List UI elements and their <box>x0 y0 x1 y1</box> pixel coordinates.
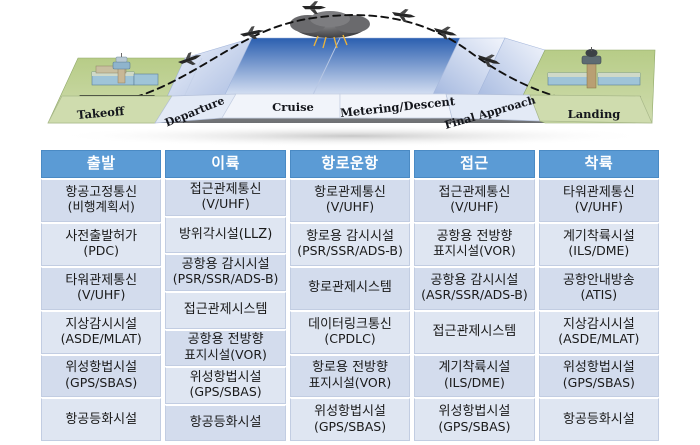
phase-column-3: 접근접근관제통신(V/UHF)공항용 전방향표지시설(VOR)공항용 감시시설(… <box>414 150 534 441</box>
facility-cell[interactable]: 공항안내방송(ATIS) <box>539 267 659 310</box>
facility-code: (V/UHF) <box>575 200 623 215</box>
facility-cell[interactable]: 계기착륙시설(ILS/DME) <box>539 223 659 266</box>
facility-name: 접근관제시스템 <box>433 324 517 339</box>
facility-cell[interactable]: 위성항법시설(GPS/SBAS) <box>539 355 659 398</box>
facility-name: 위성항법시설 <box>439 404 511 419</box>
facility-cell[interactable]: 공항용 전방향표지시설(VOR) <box>165 330 285 367</box>
flight-phases-diagram: Takeoff Departure Cruise Metering/Descen… <box>0 0 700 146</box>
facility-name: 계기착륙시설 <box>439 360 511 375</box>
cruise-air-block <box>222 38 460 101</box>
facility-name: 접근관제통신 <box>190 182 262 197</box>
facility-cell[interactable]: 접근관제통신(V/UHF) <box>414 179 534 222</box>
facility-code: 표지시설(VOR) <box>309 376 392 391</box>
facility-name: 공항안내방송 <box>563 273 635 288</box>
facility-code: (비행계획서) <box>68 200 135 215</box>
facility-code: (V/UHF) <box>201 197 249 212</box>
facility-cell[interactable]: 지상감시시설(ASDE/MLAT) <box>41 311 161 354</box>
facility-cell[interactable]: 데이터링크통신(CPDLC) <box>290 311 410 354</box>
facility-code: (PDC) <box>83 244 119 259</box>
phase-column-2: 항로운항항로관제통신(V/UHF)항로용 감시시설(PSR/SSR/ADS-B)… <box>290 150 410 441</box>
facility-cell[interactable]: 항공고정통신(비행계획서) <box>41 179 161 222</box>
facility-name: 계기착륙시설 <box>563 229 635 244</box>
facility-name: 항로용 전방향 <box>312 360 388 375</box>
facility-code: (ATIS) <box>581 288 618 303</box>
facility-cell[interactable]: 타워관제통신(V/UHF) <box>539 179 659 222</box>
flight-phase-facilities-table: 출발항공고정통신(비행계획서)사전출발허가(PDC)타워관제통신(V/UHF)지… <box>41 150 659 441</box>
facility-name: 항공등화시설 <box>563 412 635 427</box>
facility-cell[interactable]: 위성항법시설(GPS/SBAS) <box>41 355 161 398</box>
phase-label-landing: Landing <box>568 107 621 121</box>
facility-code: (CPDLC) <box>324 332 375 347</box>
facility-name: 위성항법시설 <box>65 360 137 375</box>
facility-name: 접근관제통신 <box>439 185 511 200</box>
column-header[interactable]: 접근 <box>414 150 534 178</box>
airplane-icon-descent-1 <box>391 7 417 23</box>
facility-cell[interactable]: 항공등화시설 <box>539 398 659 441</box>
facility-cell[interactable]: 지상감시시설(ASDE/MLAT) <box>539 311 659 354</box>
facility-cell[interactable]: 위성항법시설(GPS/SBAS) <box>414 398 534 441</box>
facility-code: (V/UHF) <box>77 288 125 303</box>
facility-cell[interactable]: 위성항법시설(GPS/SBAS) <box>290 398 410 441</box>
facility-cell[interactable]: 방위각시설(LLZ) <box>165 217 285 254</box>
facility-cell[interactable]: 타워관제통신(V/UHF) <box>41 267 161 310</box>
facility-code: (PSR/SSR/ADS-B) <box>173 272 279 287</box>
column-header[interactable]: 항로운항 <box>290 150 410 178</box>
facility-name: 접근관제시스템 <box>184 302 268 317</box>
phase-column-4: 착륙타워관제통신(V/UHF)계기착륙시설(ILS/DME)공항안내방송(ATI… <box>539 150 659 441</box>
facility-code: 표지시설(VOR) <box>433 244 516 259</box>
facility-name: 지상감시시설 <box>563 317 635 332</box>
facility-name: 항공고정통신 <box>65 185 137 200</box>
column-header[interactable]: 착륙 <box>539 150 659 178</box>
facility-cell[interactable]: 항로용 감시시설(PSR/SSR/ADS-B) <box>290 223 410 266</box>
flight-phases-diagram-svg: Takeoff Departure Cruise Metering/Descen… <box>0 0 700 146</box>
platform-shadow <box>52 125 652 146</box>
facility-cell[interactable]: 공항용 감시시설(ASR/SSR/ADS-B) <box>414 267 534 310</box>
facility-cell[interactable]: 공항용 전방향표지시설(VOR) <box>414 223 534 266</box>
facility-cell[interactable]: 항공등화시설 <box>165 405 285 442</box>
phase-column-0: 출발항공고정통신(비행계획서)사전출발허가(PDC)타워관제통신(V/UHF)지… <box>41 150 161 441</box>
facility-code: (PSR/SSR/ADS-B) <box>297 244 403 259</box>
facility-code: (GPS/SBAS) <box>190 385 262 400</box>
facility-code: 표지시설(VOR) <box>184 348 267 363</box>
facility-name: 위성항법시설 <box>190 370 262 385</box>
facility-name: 항로용 감시시설 <box>306 229 394 244</box>
facility-code: (GPS/SBAS) <box>438 420 510 435</box>
facility-name: 항로관제시스템 <box>308 280 392 295</box>
facility-code: (ASR/SSR/ADS-B) <box>421 288 528 303</box>
facility-cell[interactable]: 항로관제시스템 <box>290 267 410 310</box>
facility-name: 공항용 감시시설 <box>182 257 270 272</box>
facility-cell[interactable]: 항로관제통신(V/UHF) <box>290 179 410 222</box>
facility-cell[interactable]: 공항용 감시시설(PSR/SSR/ADS-B) <box>165 254 285 291</box>
facility-code: (ASDE/MLAT) <box>558 332 639 347</box>
facility-name: 타워관제통신 <box>563 185 635 200</box>
facility-cell[interactable]: 사전출발허가(PDC) <box>41 223 161 266</box>
column-header[interactable]: 출발 <box>41 150 161 178</box>
facility-cell[interactable]: 항로용 전방향표지시설(VOR) <box>290 355 410 398</box>
facility-code: (ILS/DME) <box>568 244 629 259</box>
facility-cell[interactable]: 항공등화시설 <box>41 398 161 441</box>
facility-code: (V/UHF) <box>326 200 374 215</box>
facility-cell[interactable]: 계기착륙시설(ILS/DME) <box>414 355 534 398</box>
facility-name: 위성항법시설 <box>314 404 386 419</box>
facility-name: 항로관제통신 <box>314 185 386 200</box>
column-header[interactable]: 이륙 <box>165 150 285 178</box>
facility-name: 공항용 전방향 <box>188 332 264 347</box>
facility-code: (GPS/SBAS) <box>314 420 386 435</box>
facility-name: 항공등화시설 <box>65 412 137 427</box>
facility-code: (GPS/SBAS) <box>65 376 137 391</box>
facility-cell[interactable]: 접근관제시스템 <box>165 292 285 329</box>
facility-name: 항공등화시설 <box>190 415 262 430</box>
facility-code: (ILS/DME) <box>444 376 505 391</box>
facility-name: 지상감시시설 <box>65 317 137 332</box>
facility-name: 사전출발허가 <box>65 229 137 244</box>
facility-cell[interactable]: 위성항법시설(GPS/SBAS) <box>165 367 285 404</box>
facility-name: 공항용 전방향 <box>436 229 512 244</box>
facility-name: 위성항법시설 <box>563 360 635 375</box>
facility-name: 방위각시설(LLZ) <box>179 227 272 242</box>
facility-code: (GPS/SBAS) <box>563 376 635 391</box>
facility-cell[interactable]: 접근관제시스템 <box>414 311 534 354</box>
phase-column-1: 이륙접근관제통신(V/UHF)방위각시설(LLZ)공항용 감시시설(PSR/SS… <box>165 150 285 441</box>
facility-code: (V/UHF) <box>450 200 498 215</box>
facility-code: (ASDE/MLAT) <box>61 332 142 347</box>
facility-cell[interactable]: 접근관제통신(V/UHF) <box>165 179 285 216</box>
facility-name: 데이터링크통신 <box>308 317 392 332</box>
facility-name: 공항용 감시시설 <box>430 273 518 288</box>
phase-label-cruise: Cruise <box>272 100 314 114</box>
facility-name: 타워관제통신 <box>65 273 137 288</box>
